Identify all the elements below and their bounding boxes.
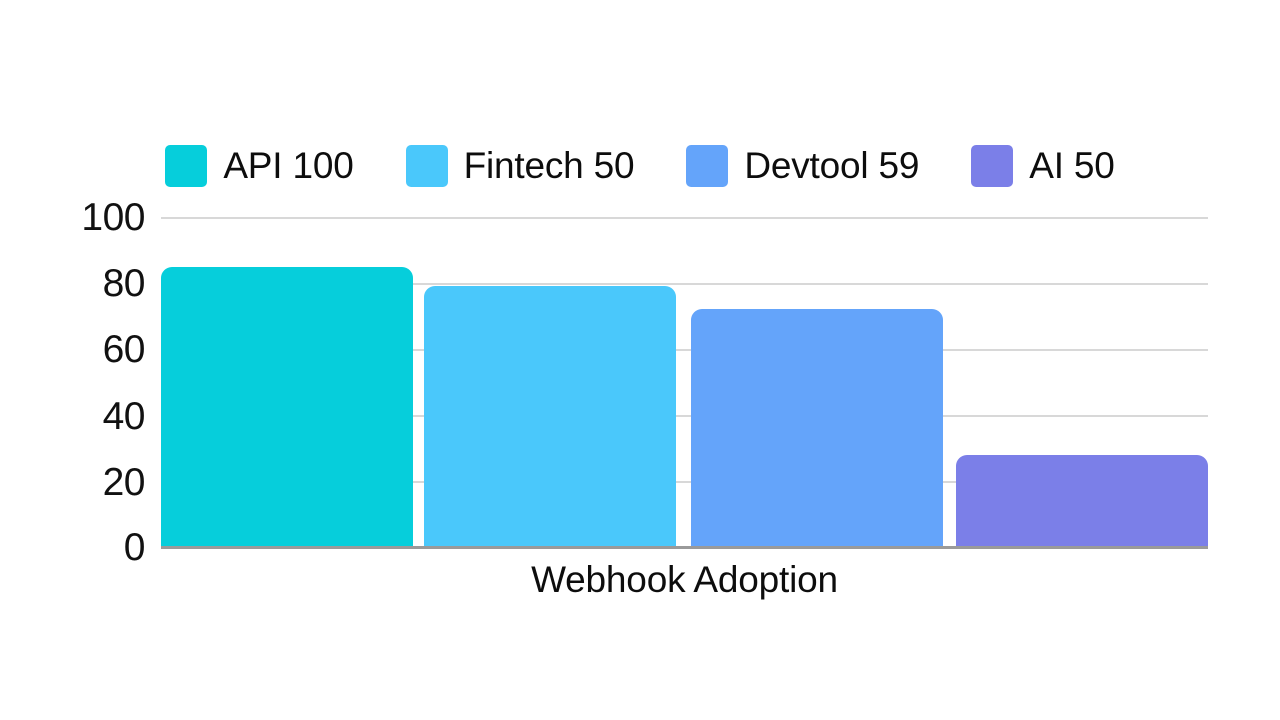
bar-group: [161, 217, 1208, 547]
bar-chart: API 100 Fintech 50 Devtool 59 AI 50 100 …: [0, 0, 1280, 720]
bar-fintech[interactable]: [424, 286, 676, 547]
legend-item-ai[interactable]: AI 50: [971, 145, 1114, 187]
legend-swatch-icon-devtool: [686, 145, 728, 187]
y-tick-label-0: 0: [0, 528, 145, 567]
legend-item-devtool[interactable]: Devtool 59: [686, 145, 919, 187]
bar-api[interactable]: [161, 267, 413, 548]
y-tick-label-20: 20: [0, 463, 145, 502]
bar-ai[interactable]: [956, 455, 1208, 547]
legend-label-ai: AI 50: [1029, 145, 1114, 187]
legend-swatch-icon-ai: [971, 145, 1013, 187]
legend-label-devtool: Devtool 59: [744, 145, 919, 187]
y-tick-label-40: 40: [0, 397, 145, 436]
legend-item-api[interactable]: API 100: [165, 145, 353, 187]
legend-label-fintech: Fintech 50: [464, 145, 635, 187]
legend-swatch-icon-fintech: [406, 145, 448, 187]
x-axis-title: Webhook Adoption: [161, 557, 1208, 603]
y-axis: 100 80 60 40 20 0: [0, 0, 145, 720]
chart-legend: API 100 Fintech 50 Devtool 59 AI 50: [0, 138, 1280, 194]
y-tick-label-100: 100: [0, 198, 145, 237]
y-tick-label-60: 60: [0, 330, 145, 369]
x-axis-baseline: [161, 546, 1208, 549]
bar-devtool[interactable]: [691, 309, 943, 547]
legend-swatch-icon-api: [165, 145, 207, 187]
plot-area: [161, 217, 1208, 547]
y-tick-label-80: 80: [0, 264, 145, 303]
legend-label-api: API 100: [223, 145, 353, 187]
legend-item-fintech[interactable]: Fintech 50: [406, 145, 635, 187]
